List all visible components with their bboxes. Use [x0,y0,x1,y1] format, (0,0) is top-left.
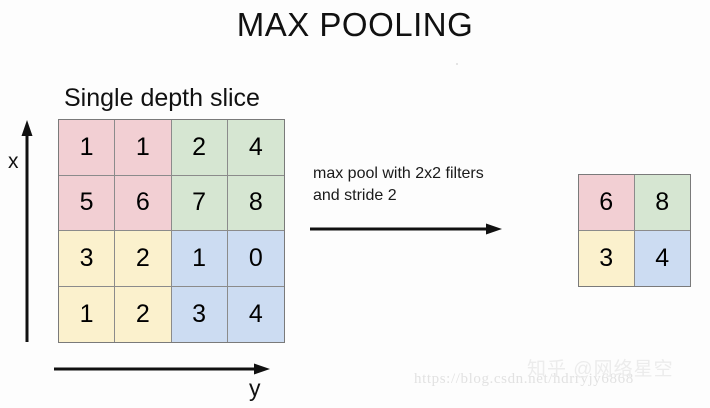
input-cell: 0 [228,231,284,287]
axis-arrow-y [54,362,270,376]
pooling-operation-caption: max pool with 2x2 filters and stride 2 [313,163,553,206]
input-cell: 3 [172,287,228,343]
input-cell: 4 [228,120,284,176]
axis-arrow-x [20,120,34,342]
input-cell: 2 [172,120,228,176]
decorative-speck [456,63,458,65]
page-title: MAX POOLING [0,6,710,44]
pooling-caption-line-1: max pool with 2x2 filters [313,163,553,185]
output-cell: 6 [579,175,635,231]
input-cell: 1 [59,287,115,343]
input-feature-map-grid: 1 1 2 4 5 6 7 8 3 2 1 0 1 2 3 4 [58,119,285,343]
pooling-arrow-icon [310,222,502,236]
single-depth-slice-label: Single depth slice [64,84,260,113]
input-cell: 1 [115,120,171,176]
axis-label-y: y [249,375,261,402]
input-cell: 1 [59,120,115,176]
max-pooling-slide: MAX POOLING x Single depth slice 1 1 2 4… [0,0,710,408]
zhihu-watermark: 知乎 @网络星空 [527,354,674,381]
axis-label-x: x [8,150,19,174]
input-cell: 6 [115,176,171,232]
output-cell: 4 [635,231,691,287]
input-cell: 3 [59,231,115,287]
pooling-caption-line-2: and stride 2 [313,185,553,207]
input-cell: 5 [59,176,115,232]
input-cell: 2 [115,231,171,287]
output-cell: 8 [635,175,691,231]
input-cell: 4 [228,287,284,343]
input-cell: 8 [228,176,284,232]
input-cell: 7 [172,176,228,232]
output-cell: 3 [579,231,635,287]
input-cell: 1 [172,231,228,287]
output-pooled-grid: 6 8 3 4 [578,174,691,287]
input-cell: 2 [115,287,171,343]
